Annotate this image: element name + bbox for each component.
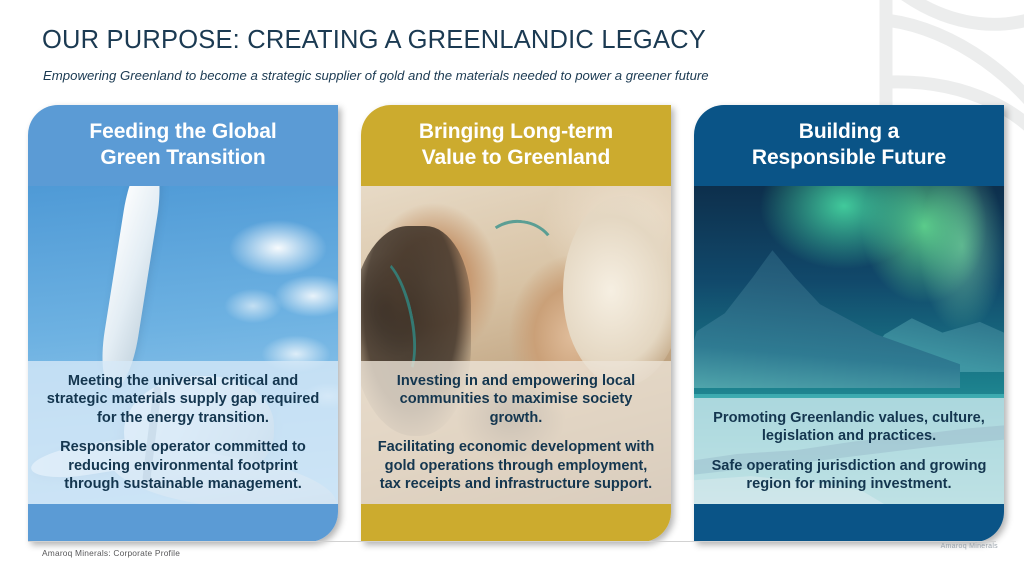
pillar-card-building-a-responsible-future[interactable]: Building a Responsible Future Promoting … — [694, 105, 1004, 542]
card-heading: Building a Responsible Future — [694, 105, 1004, 186]
card-heading: Bringing Long-term Value to Greenland — [361, 105, 671, 186]
card-body-text: Meeting the universal critical and strat… — [28, 361, 338, 504]
card-heading-line-1: Building a — [799, 120, 900, 143]
card-footer-bar — [361, 504, 671, 542]
footer-document-label: Amaroq Minerals: Corporate Profile — [42, 548, 180, 558]
page-subtitle: Empowering Greenland to become a strateg… — [43, 68, 709, 83]
card-body-paragraph: Responsible operator committed to reduci… — [42, 438, 324, 494]
slide: OUR PURPOSE: CREATING A GREENLANDIC LEGA… — [0, 0, 1024, 576]
card-body-paragraph: Meeting the universal critical and strat… — [42, 372, 324, 428]
card-footer-bar — [694, 504, 1004, 542]
card-body-paragraph: Investing in and empowering local commun… — [375, 372, 657, 428]
card-image-wind-turbine: Meeting the universal critical and strat… — [28, 186, 338, 504]
card-body-paragraph: Promoting Greenlandic values, culture, l… — [708, 409, 990, 446]
card-heading-line-2: Green Transition — [100, 146, 265, 169]
pillar-card-feeding-the-global-green-transition[interactable]: Feeding the Global Green Transition Meet… — [28, 105, 338, 542]
footer-divider — [28, 541, 996, 542]
card-heading-line-1: Bringing Long-term — [419, 120, 613, 143]
footer-brand-label: Amaroq Minerals — [941, 543, 998, 550]
card-heading: Feeding the Global Green Transition — [28, 105, 338, 186]
card-body-paragraph: Facilitating economic development with g… — [375, 438, 657, 494]
card-heading-line-2: Value to Greenland — [422, 146, 610, 169]
page-title: OUR PURPOSE: CREATING A GREENLANDIC LEGA… — [42, 26, 706, 55]
card-image-mother-and-child: Investing in and empowering local commun… — [361, 186, 671, 504]
card-body-text: Promoting Greenlandic values, culture, l… — [694, 398, 1004, 504]
card-heading-line-2: Responsible Future — [752, 146, 946, 169]
pillar-card-bringing-long-term-value-to-greenland[interactable]: Bringing Long-term Value to Greenland In… — [361, 105, 671, 542]
card-footer-bar — [28, 504, 338, 542]
card-heading-line-1: Feeding the Global — [89, 120, 276, 143]
card-body-text: Investing in and empowering local commun… — [361, 361, 671, 504]
card-image-aurora-mountains: Promoting Greenlandic values, culture, l… — [694, 186, 1004, 504]
card-body-paragraph: Safe operating jurisdiction and growing … — [708, 457, 990, 494]
